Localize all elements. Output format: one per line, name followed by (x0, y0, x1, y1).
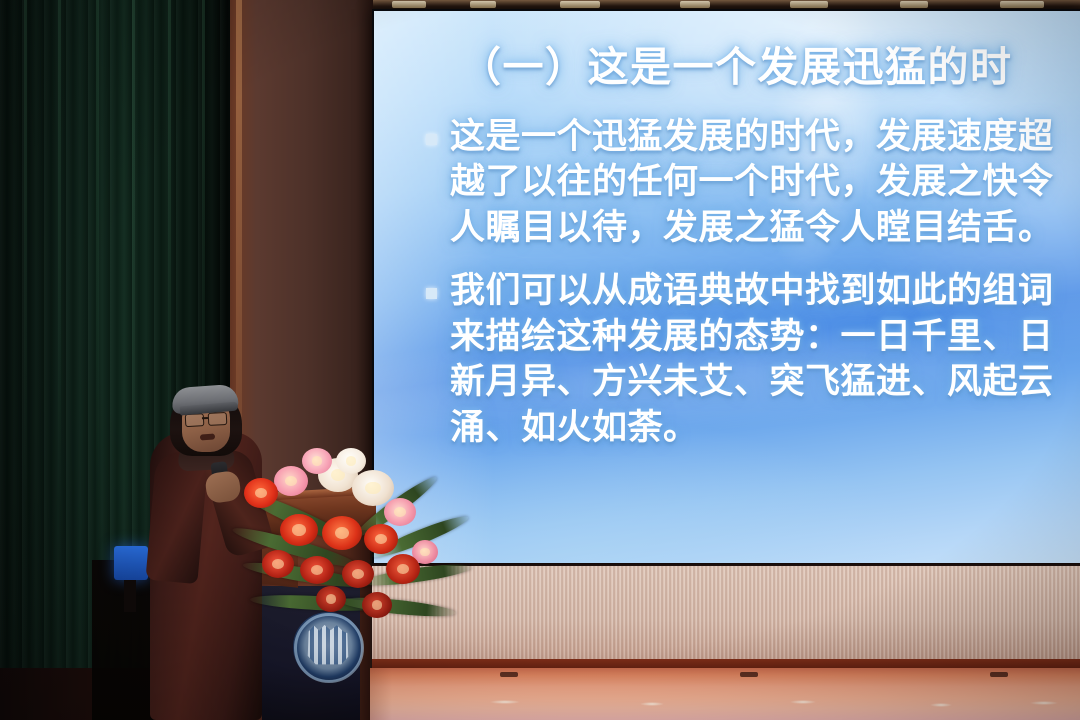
floor-reflection (1030, 701, 1058, 705)
red-carnation (262, 550, 294, 578)
floor-reflection (790, 700, 816, 704)
curtain-fold (58, 0, 61, 720)
palm-frond (340, 594, 457, 620)
projection-screen: （一）这是一个发展迅猛的时 这是一个迅猛发展的时代，发展速度超越了以往的任何一个… (374, 11, 1080, 569)
slide-bullet-text: 我们可以从成语典故中找到如此的组词来描绘这种发展的态势：一日千里、日新月异、方兴… (450, 268, 1080, 450)
square-bullet-icon (426, 288, 437, 299)
pink-gerbera (384, 498, 416, 526)
square-bullet-icon (426, 134, 437, 145)
red-carnation (342, 560, 374, 588)
slide-bullet-list: 这是一个迅猛发展的时代，发展速度超越了以往的任何一个时代，发展之快令人瞩目以待，… (374, 114, 1080, 451)
red-carnation (300, 556, 334, 584)
floor-reflection (640, 702, 664, 706)
red-gerbera (244, 478, 278, 508)
floor-reflection (490, 700, 520, 704)
eyeglass-lens-left (185, 413, 205, 427)
red-carnation (386, 554, 420, 584)
curtain-fold (24, 0, 27, 720)
photo-canvas: （一）这是一个发展迅猛的时 这是一个迅猛发展的时代，发展速度超越了以往的任何一个… (0, 0, 1080, 720)
eyeglass-lens-right (208, 412, 228, 426)
slide-bullet-item: 我们可以从成语典故中找到如此的组词来描绘这种发展的态势：一日千里、日新月异、方兴… (426, 268, 1080, 450)
ceiling-light (900, 1, 928, 8)
confidence-monitor (114, 546, 148, 580)
floor-cable-clip (500, 672, 518, 677)
red-gerbera (280, 514, 318, 546)
floor-cable-clip (740, 672, 758, 677)
red-gerbera (322, 516, 362, 550)
ceiling-light (1000, 1, 1044, 8)
slide-bullet-item: 这是一个迅猛发展的时代，发展速度超越了以往的任何一个时代，发展之快令人瞩目以待，… (426, 114, 1080, 251)
pink-gerbera (302, 448, 332, 474)
lower-wall-panel (372, 566, 1080, 665)
white-lily (336, 448, 366, 474)
ceiling-light (392, 1, 426, 8)
ceiling-light (470, 1, 496, 8)
floor-cable-clip (990, 672, 1008, 677)
pink-gerbera (274, 466, 308, 496)
floor-reflection (930, 703, 952, 707)
ceiling-light (560, 1, 600, 8)
floral-arrangement (236, 444, 468, 644)
ceiling-light (790, 1, 828, 8)
slide-bullet-text: 这是一个迅猛发展的时代，发展速度超越了以往的任何一个时代，发展之快令人瞩目以待，… (450, 114, 1080, 251)
ceiling-light (680, 1, 710, 8)
red-carnation (362, 592, 392, 618)
white-lily (352, 470, 394, 506)
red-carnation (316, 586, 346, 612)
speaker-mouth (200, 433, 215, 440)
red-gerbera (364, 524, 398, 554)
monitor-stand (124, 580, 136, 612)
slide-title: （一）这是一个发展迅猛的时 (460, 45, 1080, 91)
slide-content: （一）这是一个发展迅猛的时 这是一个迅猛发展的时代，发展速度超越了以往的任何一个… (374, 11, 1080, 569)
